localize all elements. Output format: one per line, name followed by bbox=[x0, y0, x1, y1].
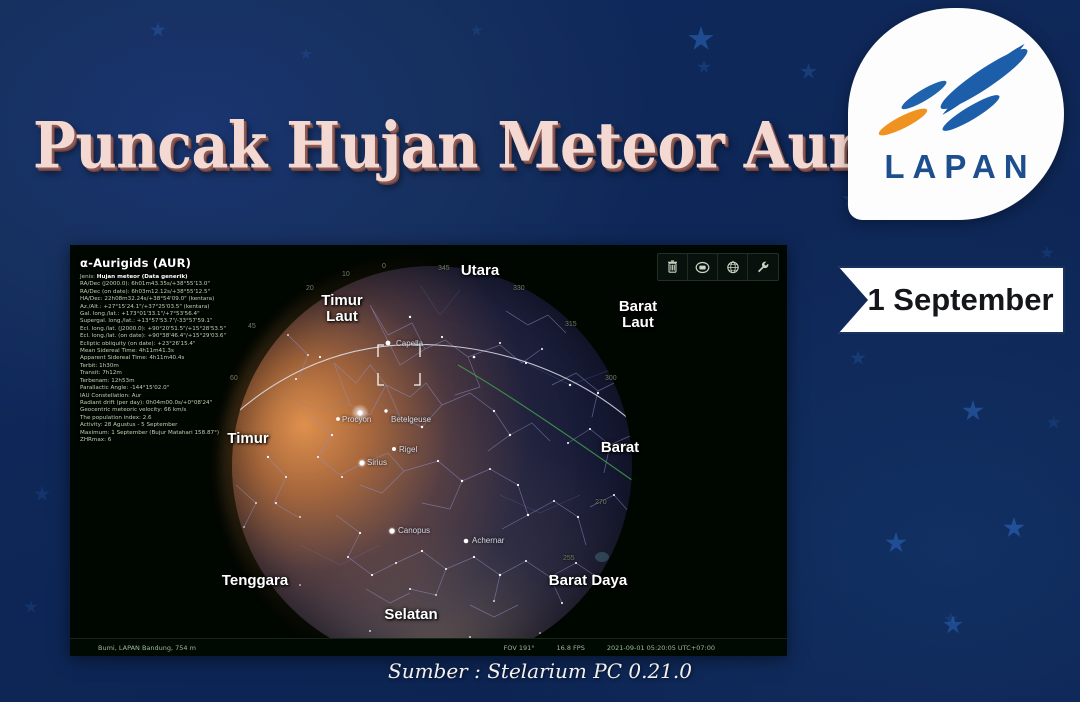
object-info-line-label: IAU Constellation: bbox=[80, 393, 132, 399]
background-star-icon bbox=[300, 48, 312, 60]
object-info-line: Supergal. long./lat.: +13°57'53.7"/-33°5… bbox=[80, 318, 315, 325]
lapan-logo-wordmark: LAPAN bbox=[848, 148, 1064, 186]
star-label-achernar: Achernar bbox=[472, 536, 504, 545]
azimuth-tick: 255 bbox=[563, 555, 575, 562]
object-info-line: Az./Alt.: +27°15'24.1"/+37°25'03.5" (ken… bbox=[80, 304, 315, 311]
object-info-line: Ecliptic obliquity (on date): +23°26'15.… bbox=[80, 341, 315, 348]
azimuth-tick: 330 bbox=[513, 285, 525, 292]
object-info-lines: Jenis: Hujan meteor (Data generik)RA/Dec… bbox=[80, 274, 315, 444]
cardinal-label-tenggara: Tenggara bbox=[210, 573, 300, 589]
object-info-line-value: 6h03m12.12s/+38°55'12.5" bbox=[131, 289, 210, 295]
status-fps: 16.8 FPS bbox=[557, 644, 585, 652]
object-info-line-value: Aur bbox=[132, 393, 142, 399]
object-info-line-label: Jenis: bbox=[80, 274, 97, 280]
object-info-line-value: Hujan meteor (Data generik) bbox=[97, 274, 188, 280]
object-info-line-label: Mean Sidereal Time: bbox=[80, 348, 139, 354]
background-star-icon bbox=[1040, 246, 1054, 260]
object-info-line: Apparent Sidereal Time: 4h11m40.4s bbox=[80, 355, 315, 362]
star-label-rigel: Rigel bbox=[399, 445, 417, 454]
object-info-line-label: Radiant drift (per day): bbox=[80, 400, 146, 406]
object-info-line-value: 12h53m bbox=[111, 378, 134, 384]
object-info-line: HA/Dec: 22h08m32.24s/+38°54'09.0" (kenta… bbox=[80, 296, 315, 303]
object-info-line-value: +90°38'46.4"/+15°29'03.6" bbox=[148, 333, 226, 339]
object-info-line-value: +173°01'33.1"/+7°53'56.4" bbox=[121, 311, 199, 317]
status-fov: FOV 191° bbox=[504, 644, 535, 652]
window-icon[interactable] bbox=[688, 254, 718, 280]
date-badge: 1 September bbox=[838, 266, 1065, 334]
star-label-sirius: Sirius bbox=[367, 458, 387, 467]
object-info-line-value: 6h01m43.35s/+38°55'13.0" bbox=[131, 281, 210, 287]
object-info-line-label: Ecliptic obliquity (on date): bbox=[80, 341, 157, 347]
background-star-icon bbox=[150, 22, 166, 38]
object-info-line-value: 4h11m41.3s bbox=[139, 348, 174, 354]
object-info-line: RA/Dec (J2000.0): 6h01m43.35s/+38°55'13.… bbox=[80, 281, 315, 288]
cardinal-label-utara: Utara bbox=[448, 263, 512, 279]
background-star-icon bbox=[800, 63, 817, 80]
object-info-line-label: Geocentric meteoric velocity: bbox=[80, 407, 164, 413]
object-info-line: Activity: 28 Agustus - 5 September bbox=[80, 422, 315, 429]
object-info-line: Parallactic Angle: -144°15'02.0" bbox=[80, 385, 315, 392]
object-info-line-value: 6 bbox=[108, 437, 112, 443]
object-info-line: Maximum: 1 September (Bujur Matahari 158… bbox=[80, 430, 315, 437]
object-info-line-label: The population index: bbox=[80, 415, 143, 421]
object-info-line-label: Transit: bbox=[80, 370, 102, 376]
star-label-procyon: Procyon bbox=[342, 415, 371, 424]
stellarium-status-bar: Bumi, LAPAN Bandung, 754 m FOV 191° 16.8… bbox=[70, 638, 787, 656]
star-label-capella: Capella bbox=[396, 339, 423, 348]
poster-canvas: Puncak Hujan Meteor Aurigid LAPAN 1 Sept… bbox=[0, 0, 1080, 702]
lapan-logo-badge: LAPAN bbox=[848, 8, 1064, 220]
object-info-line-value: +23°26'15.4" bbox=[157, 341, 195, 347]
object-info-line-label: ZHRmax: bbox=[80, 437, 108, 443]
status-location: Bumi, LAPAN Bandung, 754 m bbox=[98, 644, 196, 652]
azimuth-tick: 315 bbox=[565, 321, 577, 328]
object-info-title: α-Aurigids (AUR) bbox=[80, 256, 315, 270]
background-star-icon bbox=[1003, 517, 1025, 539]
object-info-line-value: +27°15'24.1"/+37°25'03.5" (kentara) bbox=[103, 304, 209, 310]
star-label-betelgeuse: Betelgeuse bbox=[391, 415, 431, 424]
background-star-icon bbox=[24, 600, 38, 614]
object-info-line-label: Gal. long./lat.: bbox=[80, 311, 121, 317]
cardinal-label-selatan: Selatan bbox=[376, 607, 446, 623]
object-info-line-value: -144°15'02.0" bbox=[130, 385, 169, 391]
selection-reticle bbox=[378, 345, 420, 385]
object-info-line: Geocentric meteoric velocity: 66 km/s bbox=[80, 407, 315, 414]
object-info-line-label: RA/Dec (J2000.0): bbox=[80, 281, 131, 287]
object-info-line-value: +90°20'51.5"/+15°28'53.5" bbox=[147, 326, 225, 332]
azimuth-tick: 0 bbox=[382, 263, 386, 270]
source-caption: Sumber : Stelarium PC 0.21.0 bbox=[0, 659, 1080, 683]
object-info-line-value: 2.6 bbox=[143, 415, 152, 421]
trash-icon[interactable] bbox=[658, 254, 688, 280]
date-badge-label: 1 September bbox=[849, 282, 1053, 318]
background-star-icon bbox=[962, 400, 984, 422]
object-info-line-label: Ecl. long./lat. (J2000.0): bbox=[80, 326, 147, 332]
cardinal-label-barat-laut: Barat Laut bbox=[606, 299, 670, 331]
object-info-line: The population index: 2.6 bbox=[80, 415, 315, 422]
object-info-line-label: Parallactic Angle: bbox=[80, 385, 130, 391]
object-info-line-value: 0h04m00.0s/+0°08'24" bbox=[146, 400, 212, 406]
azimuth-tick: 10 bbox=[342, 271, 350, 278]
background-star-icon bbox=[688, 26, 714, 52]
object-info-line-label: HA/Dec: bbox=[80, 296, 104, 302]
lapan-logo-icon bbox=[848, 8, 1064, 220]
object-info-line-label: Maximum: bbox=[80, 430, 111, 436]
wrench-icon[interactable] bbox=[748, 254, 778, 280]
cardinal-label-barat-daya: Barat Daya bbox=[536, 573, 640, 589]
background-star-icon bbox=[885, 532, 907, 554]
object-info-line-label: Activity: bbox=[80, 422, 104, 428]
status-datetime: 2021-09-01 05:20:05 UTC+07:00 bbox=[607, 644, 715, 652]
sky-view[interactable]: 10 0 345 20 330 315 300 285 270 45 60 75… bbox=[70, 245, 787, 656]
object-info-line-label: Terbit: bbox=[80, 363, 99, 369]
sky-toolbar[interactable] bbox=[657, 253, 779, 281]
object-info-line-label: Supergal. long./lat.: bbox=[80, 318, 137, 324]
object-info-line-value: 28 Agustus - 5 September bbox=[104, 422, 177, 428]
azimuth-tick: 300 bbox=[605, 375, 617, 382]
object-info-line-value: 1 September (Bujur Matahari 158.87°) bbox=[111, 430, 219, 436]
object-info-line-value: 4h11m40.4s bbox=[149, 355, 184, 361]
azimuth-tick: 270 bbox=[595, 499, 607, 506]
object-info-line-value: 7h12m bbox=[102, 370, 122, 376]
object-info-line: IAU Constellation: Aur bbox=[80, 393, 315, 400]
globe-icon[interactable] bbox=[718, 254, 748, 280]
star-label-canopus: Canopus bbox=[398, 526, 430, 535]
page-title: Puncak Hujan Meteor Aurigid bbox=[33, 99, 843, 191]
background-star-icon bbox=[697, 60, 711, 74]
object-info-line-label: Ecl. long./lat. (on date): bbox=[80, 333, 148, 339]
object-info-line: Transit: 7h12m bbox=[80, 370, 315, 377]
object-info-line-value: 22h08m32.24s/+38°54'09.0" (kentara) bbox=[104, 296, 214, 302]
stellarium-screenshot: 10 0 345 20 330 315 300 285 270 45 60 75… bbox=[70, 245, 787, 656]
object-info-line-label: Apparent Sidereal Time: bbox=[80, 355, 149, 361]
object-info-line-label: RA/Dec (on date): bbox=[80, 289, 131, 295]
object-info-line-value: 1h30m bbox=[99, 363, 119, 369]
object-info-line-value: +13°57'53.7"/-33°57'59.1" bbox=[137, 318, 213, 324]
object-info-line-label: Az./Alt.: bbox=[80, 304, 103, 310]
object-info-line: ZHRmax: 6 bbox=[80, 437, 315, 444]
object-info-line: Terbenam: 12h53m bbox=[80, 378, 315, 385]
object-info-line-value: 66 km/s bbox=[164, 407, 186, 413]
cardinal-label-timur-laut: Timur Laut bbox=[310, 293, 374, 325]
status-right-group: FOV 191° 16.8 FPS 2021-09-01 05:20:05 UT… bbox=[504, 644, 715, 652]
object-info-line-label: Terbenam: bbox=[80, 378, 111, 384]
background-star-icon bbox=[34, 486, 50, 502]
object-info-line: Ecl. long./lat. (on date): +90°38'46.4"/… bbox=[80, 333, 315, 340]
background-star-icon bbox=[470, 24, 483, 37]
cardinal-label-barat: Barat bbox=[588, 440, 652, 456]
background-star-icon bbox=[850, 350, 866, 366]
background-star-icon bbox=[1046, 415, 1061, 430]
object-info-panel: α-Aurigids (AUR) Jenis: Hujan meteor (Da… bbox=[80, 256, 315, 444]
